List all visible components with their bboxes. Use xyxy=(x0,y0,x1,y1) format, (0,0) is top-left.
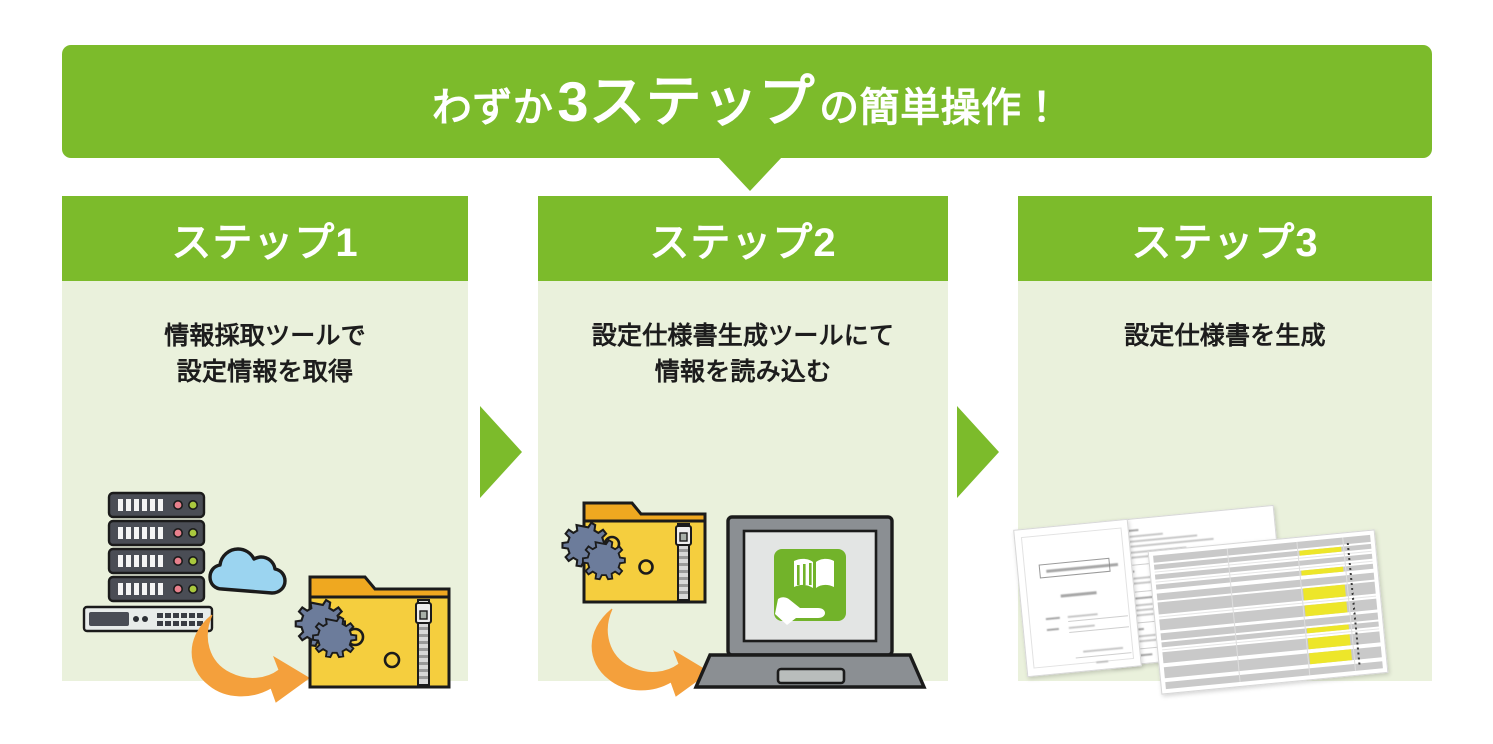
step-3-body: 設定仕様書を生成 xyxy=(1018,281,1432,681)
laptop-icon xyxy=(696,517,924,687)
step-3-caption: 設定仕様書を生成 xyxy=(1124,319,1326,355)
step-3-illustration xyxy=(1018,507,1432,707)
step-1-header: ステップ1 xyxy=(62,196,468,281)
connector-step1-to-step2-icon xyxy=(480,406,522,498)
step-2-illustration xyxy=(538,479,948,719)
server-rack-icon xyxy=(109,493,204,601)
step-3-header: ステップ3 xyxy=(1018,196,1432,281)
step-1-caption: 情報採取ツールで 設定情報を取得 xyxy=(164,319,366,390)
step-card-2: ステップ2 設定仕様書生成ツールにて 情報を読み込む xyxy=(538,196,948,681)
step-2-body: 設定仕様書生成ツールにて 情報を読み込む xyxy=(538,281,948,681)
connector-step2-to-step3-icon xyxy=(957,406,999,498)
step-2-header: ステップ2 xyxy=(538,196,948,281)
orange-curved-arrow-icon xyxy=(592,609,709,696)
banner-pointer-triangle xyxy=(718,157,782,191)
cover-title-box xyxy=(1039,558,1111,579)
headline-prefix: わずか xyxy=(432,88,554,128)
document-spreadsheet-page xyxy=(1148,529,1389,694)
document-cover-page xyxy=(1013,519,1142,677)
headline-text: わずか 3ステップ の簡単操作！ xyxy=(432,74,1062,130)
step-1-illustration xyxy=(62,485,468,715)
zip-folder-gears-icon xyxy=(296,577,449,687)
infographic-stage: わずか 3ステップ の簡単操作！ ステップ1 情報採取ツールで 設定情報を取得 xyxy=(0,0,1493,744)
headline-suffix: の簡単操作！ xyxy=(819,88,1062,128)
headline-banner: わずか 3ステップ の簡単操作！ xyxy=(62,45,1432,158)
step-2-caption: 設定仕様書生成ツールにて 情報を読み込む xyxy=(592,319,894,390)
app-logo-icon xyxy=(774,549,846,625)
network-switch-icon xyxy=(84,607,212,631)
step-1-body: 情報採取ツールで 設定情報を取得 xyxy=(62,281,468,681)
headline-highlight: 3ステップ xyxy=(553,74,819,130)
cover-page-border xyxy=(1021,527,1134,668)
cloud-icon xyxy=(210,549,285,593)
step-card-3: ステップ3 設定仕様書を生成 xyxy=(1018,196,1432,681)
zip-folder-gears-icon xyxy=(562,503,705,602)
step-card-1: ステップ1 情報採取ツールで 設定情報を取得 xyxy=(62,196,468,681)
